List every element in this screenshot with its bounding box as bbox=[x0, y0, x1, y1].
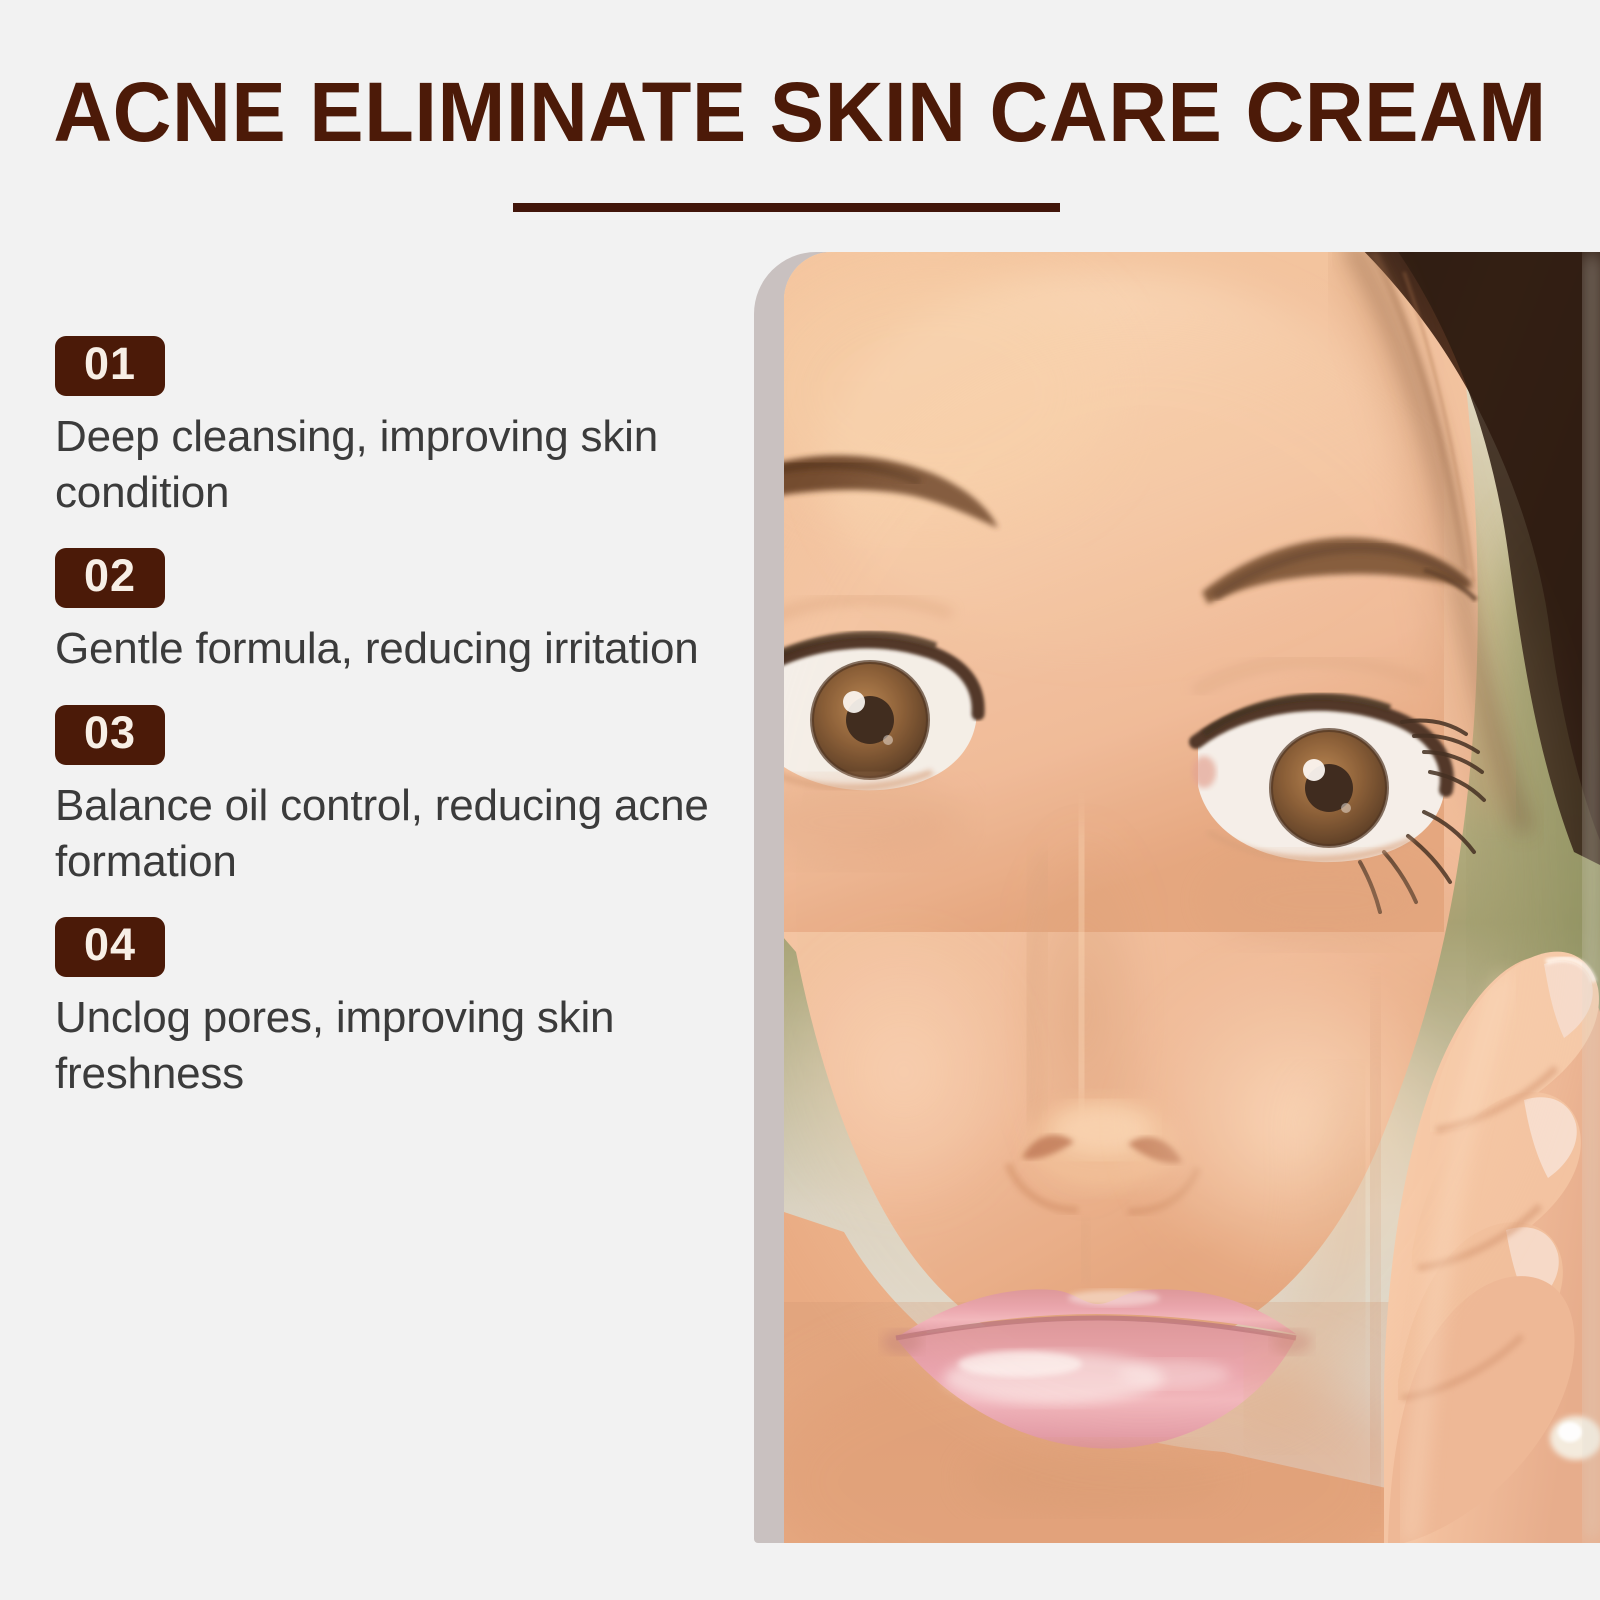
feature-item: 04 Unclog pores, improving skin freshnes… bbox=[55, 917, 735, 1101]
model-photo-illustration bbox=[784, 252, 1600, 1543]
product-feature-banner: ACNE ELIMINATE SKIN CARE CREAM 01 Deep c… bbox=[0, 0, 1600, 1600]
photo-frame bbox=[754, 252, 1600, 1543]
feature-number-badge: 01 bbox=[55, 336, 165, 396]
feature-description: Balance oil control, reducing acne forma… bbox=[55, 778, 735, 889]
title-divider bbox=[513, 203, 1060, 212]
feature-number-badge: 03 bbox=[55, 705, 165, 765]
feature-item: 02 Gentle formula, reducing irritation bbox=[55, 548, 735, 677]
feature-description: Gentle formula, reducing irritation bbox=[55, 621, 735, 676]
feature-item: 01 Deep cleansing, improving skin condit… bbox=[55, 336, 735, 520]
feature-number-badge: 04 bbox=[55, 917, 165, 977]
feature-description: Deep cleansing, improving skin condition bbox=[55, 409, 735, 520]
feature-number-badge: 02 bbox=[55, 548, 165, 608]
feature-description: Unclog pores, improving skin freshness bbox=[55, 990, 735, 1101]
feature-list: 01 Deep cleansing, improving skin condit… bbox=[55, 336, 735, 1129]
model-photo bbox=[784, 252, 1600, 1543]
feature-item: 03 Balance oil control, reducing acne fo… bbox=[55, 705, 735, 889]
page-title: ACNE ELIMINATE SKIN CARE CREAM bbox=[24, 64, 1576, 161]
